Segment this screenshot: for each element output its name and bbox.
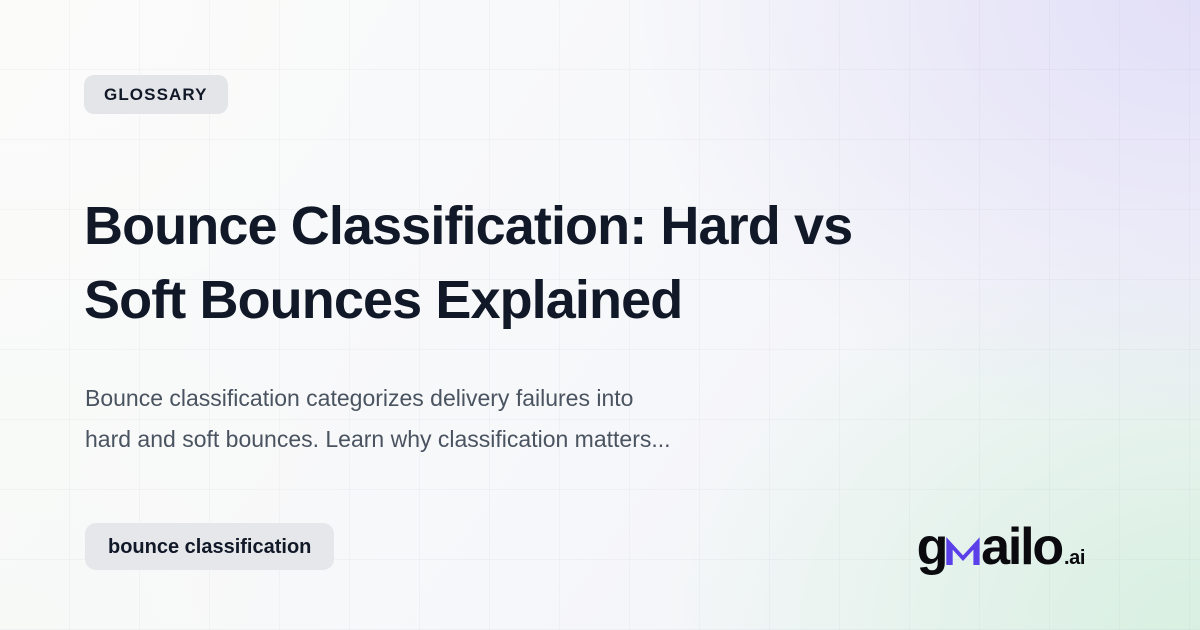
brand-logo-domain: .ai <box>1064 548 1085 568</box>
card-content: GLOSSARY Bounce Classification: Hard vs … <box>0 0 1200 630</box>
page-title-line-2: Soft Bounces Explained <box>84 270 682 330</box>
page-description-line-2: hard and soft bounces. Learn why classif… <box>85 426 671 452</box>
page-description-line-1: Bounce classification categorizes delive… <box>85 385 633 411</box>
brand-logo-prefix: g <box>917 521 947 573</box>
category-badge: GLOSSARY <box>84 75 228 114</box>
topic-tag-label: bounce classification <box>108 537 311 557</box>
topic-tag[interactable]: bounce classification <box>85 523 334 570</box>
category-badge-label: GLOSSARY <box>104 86 208 103</box>
gmail-m-icon <box>944 534 982 565</box>
brand-logo[interactable]: g ailo .ai <box>917 521 1085 573</box>
brand-logo-suffix: ailo <box>981 521 1062 573</box>
page-title-line-1: Bounce Classification: Hard vs <box>84 196 852 256</box>
page-description: Bounce classification categorizes delive… <box>85 378 905 460</box>
og-social-card: GLOSSARY Bounce Classification: Hard vs … <box>0 0 1200 630</box>
page-title: Bounce Classification: Hard vs Soft Boun… <box>84 190 1044 338</box>
